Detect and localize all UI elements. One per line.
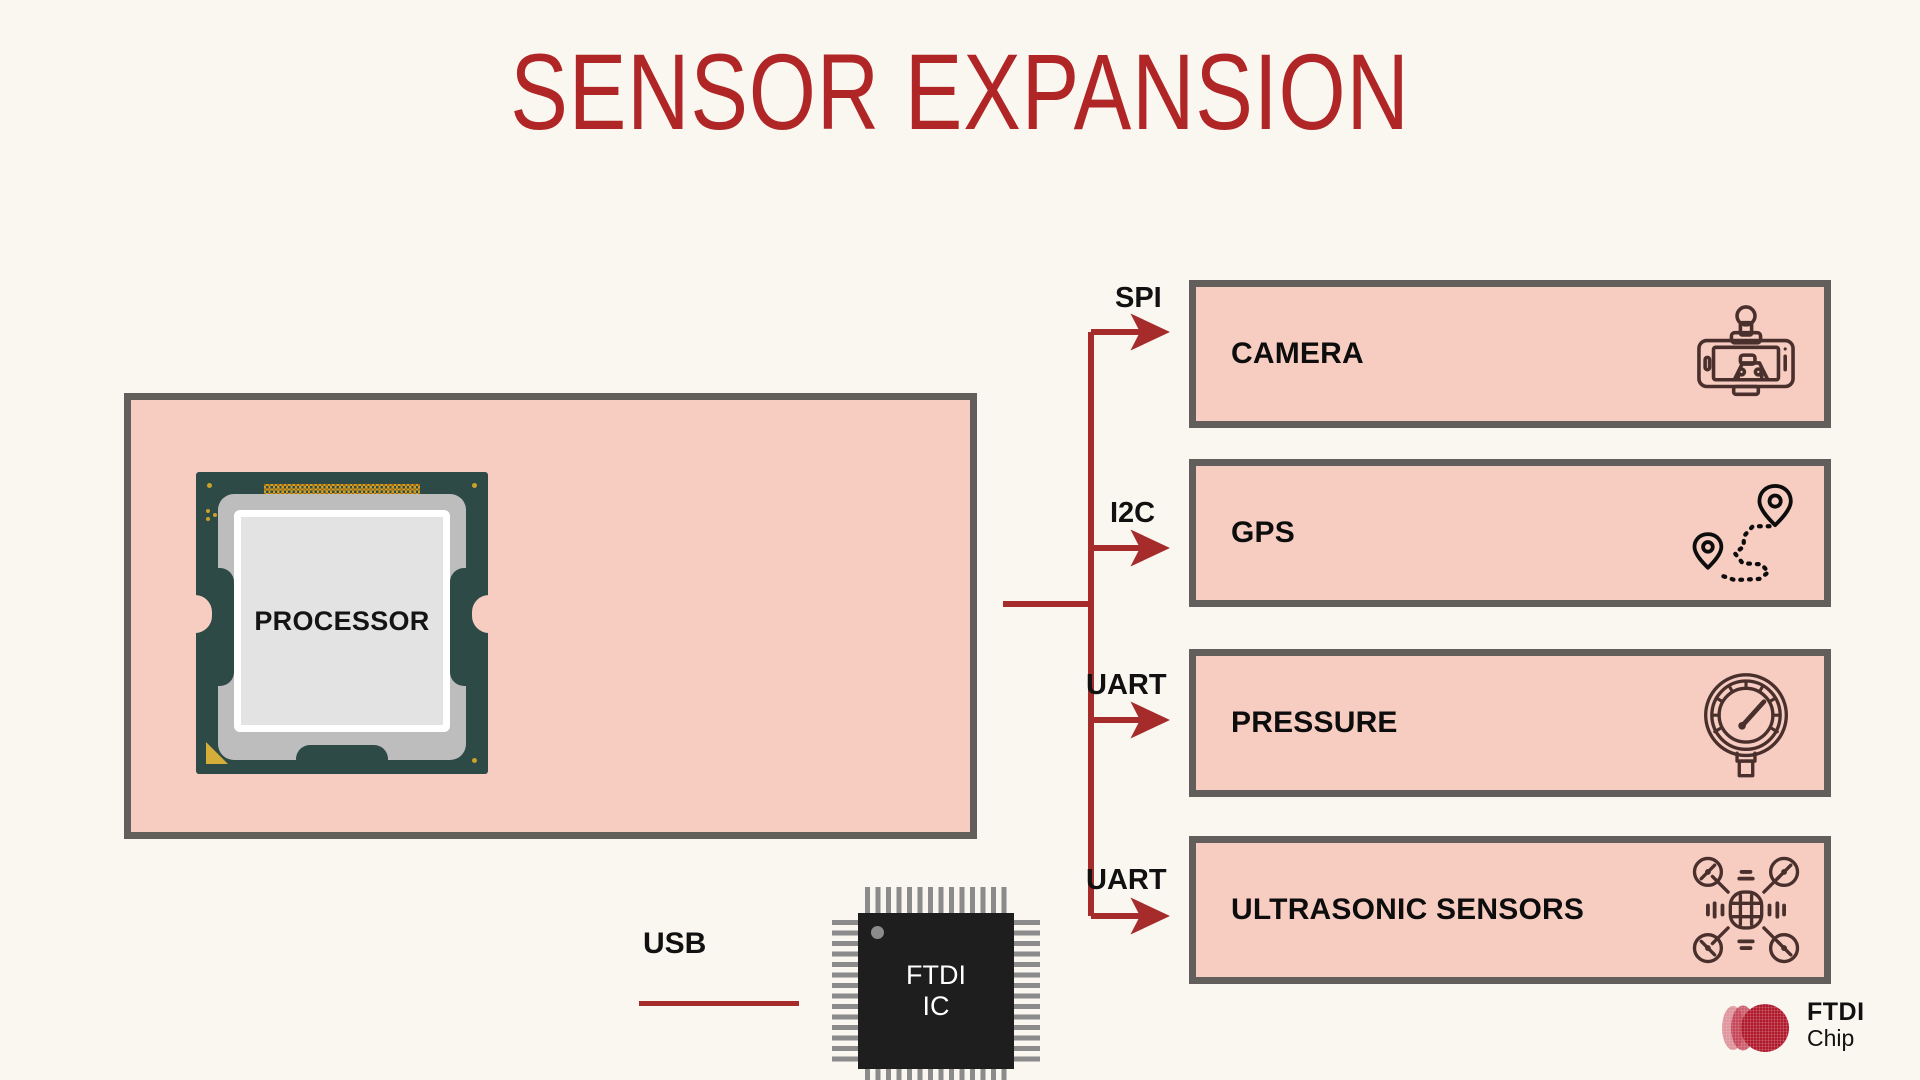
ic-pins-bottom bbox=[865, 1069, 1007, 1080]
protocol-label-uart-pressure: UART bbox=[1086, 669, 1167, 702]
ftdi-ic-label-line1: FTDI bbox=[906, 960, 966, 991]
board-panel: PROCESSOR USB FTDI IC bbox=[124, 393, 977, 839]
sensor-box-pressure[interactable]: PRESSURE bbox=[1189, 649, 1831, 797]
cpu-marker-dot bbox=[206, 509, 210, 513]
sensor-box-ultrasonic[interactable]: ULTRASONIC SENSORS bbox=[1189, 836, 1831, 984]
map-route-pins-icon bbox=[1690, 477, 1802, 589]
dashcam-icon bbox=[1690, 298, 1802, 410]
cpu-marker-dot bbox=[206, 517, 210, 521]
page-title: SENSOR EXPANSION bbox=[192, 38, 1728, 146]
cpu-corner-dot bbox=[472, 758, 477, 763]
cpu-chip-icon: PROCESSOR bbox=[196, 472, 488, 774]
sensor-box-gps[interactable]: GPS bbox=[1189, 459, 1831, 607]
diagram-canvas: SENSOR EXPANSION PROCESSOR USB bbox=[0, 0, 1920, 1080]
ic-pin1-marker-icon bbox=[871, 926, 884, 939]
usb-label: USB bbox=[643, 927, 706, 961]
ftdi-logo-suffix: Chip bbox=[1807, 1027, 1865, 1050]
ic-pins-left bbox=[832, 920, 858, 1062]
protocol-label-uart-ultrasonic: UART bbox=[1086, 864, 1167, 897]
protocol-label-i2c: I2C bbox=[1110, 497, 1155, 530]
cpu-heat-spreader: PROCESSOR bbox=[218, 494, 466, 760]
qfp-chip-icon: FTDI IC bbox=[832, 887, 1040, 1080]
ftdi-ic-label-line2: IC bbox=[923, 991, 950, 1022]
ic-pins-right bbox=[1014, 920, 1040, 1062]
sensor-label: PRESSURE bbox=[1231, 706, 1398, 740]
sensor-box-camera[interactable]: CAMERA bbox=[1189, 280, 1831, 428]
cpu-die-area: PROCESSOR bbox=[234, 510, 450, 732]
wafer-stack-icon bbox=[1715, 1002, 1801, 1054]
cpu-heat-spreader-notch bbox=[296, 745, 388, 761]
protocol-label-spi: SPI bbox=[1115, 282, 1162, 315]
ic-pins-top bbox=[865, 887, 1007, 913]
ftdi-chip-logo: FTDI Chip bbox=[1715, 1000, 1885, 1056]
pressure-gauge-icon bbox=[1690, 667, 1802, 779]
quadcopter-drone-icon bbox=[1690, 854, 1802, 966]
sensor-label: ULTRASONIC SENSORS bbox=[1231, 893, 1584, 927]
ftdi-logo-name: FTDI bbox=[1807, 1000, 1865, 1025]
usb-connector-line bbox=[639, 1001, 799, 1006]
cpu-corner-dot bbox=[207, 483, 212, 488]
ftdi-logo-text: FTDI Chip bbox=[1807, 1000, 1865, 1050]
ic-body: FTDI IC bbox=[858, 913, 1014, 1069]
sensor-label: GPS bbox=[1231, 516, 1295, 550]
processor-label: PROCESSOR bbox=[254, 606, 429, 637]
cpu-corner-dot bbox=[472, 483, 477, 488]
sensor-label: CAMERA bbox=[1231, 337, 1364, 371]
cpu-marker-dot bbox=[213, 513, 217, 517]
